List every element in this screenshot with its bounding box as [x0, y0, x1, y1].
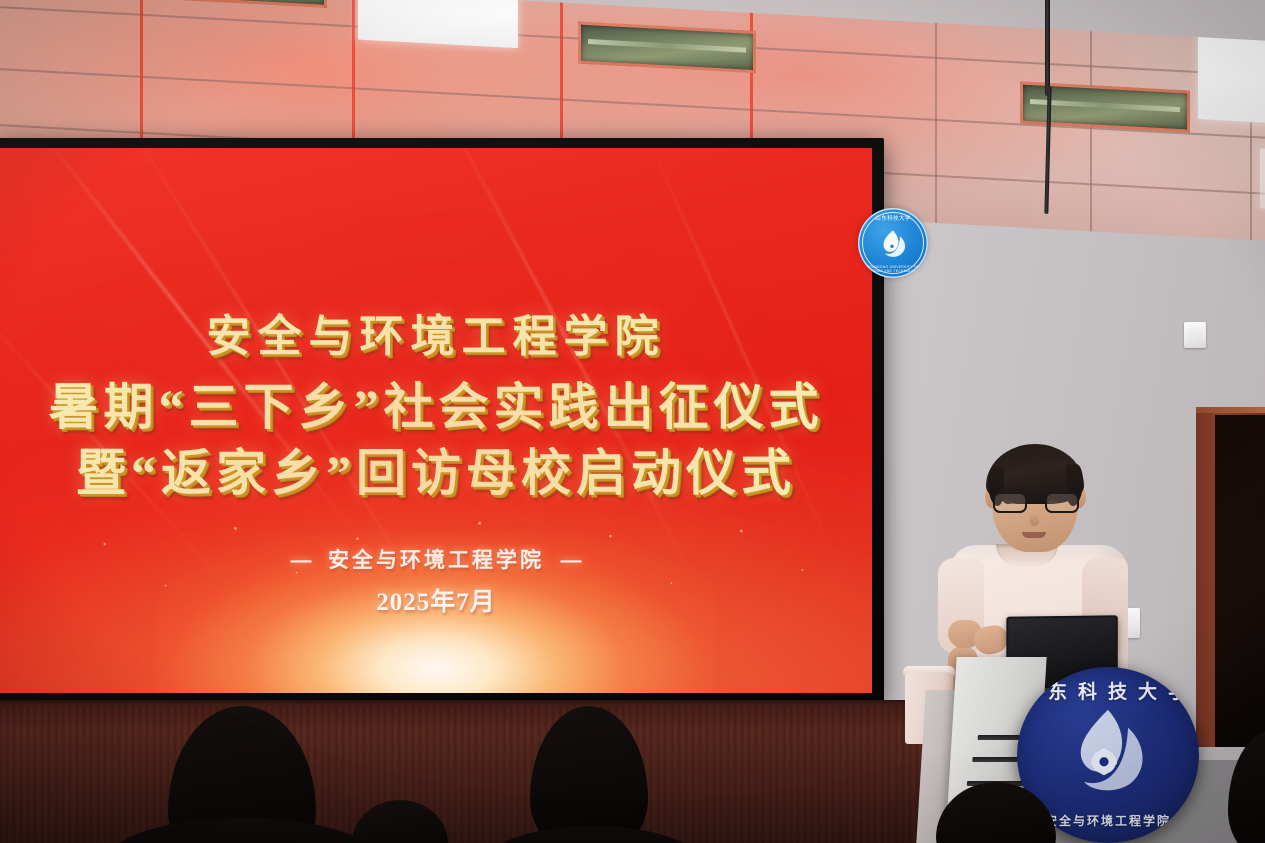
presenter-eyebrow-left [1000, 488, 1028, 491]
door-frame-highlight [1196, 407, 1265, 413]
ceiling-light-panel [1198, 27, 1265, 126]
sparkle-particles [0, 505, 872, 635]
emblem-flame-icon [873, 227, 913, 261]
glasses-lens-right [1045, 492, 1079, 513]
photo-scene: 安全与环境工程学院 暑期“三下乡”社会实践出征仪式 暨“返家乡”回访母校启动仪式… [0, 0, 1265, 843]
ceiling-light-panel [1260, 148, 1265, 214]
glasses-bridge [1027, 500, 1045, 502]
hanging-cable [1045, 0, 1050, 96]
eyeglasses-icon [990, 492, 1082, 514]
presenter-nose [1030, 514, 1039, 526]
wall-switch-upper[interactable] [1184, 322, 1206, 348]
plaque-arc-top-text: 山东科技大学 [1017, 677, 1199, 704]
emblem-arc-top-text: 山东科技大学 [858, 214, 928, 222]
plaque-flame-icon [1056, 706, 1160, 802]
presenter-eyebrow-right [1042, 488, 1070, 491]
wainscot-panel [0, 706, 1000, 843]
university-emblem-icon: 山东科技大学 SHANDONG UNIVERSITY OF SCIENCE AN… [858, 208, 928, 278]
emblem-arc-bottom-text: SHANDONG UNIVERSITY OF SCIENCE AND TECHN… [858, 265, 928, 273]
led-screen: 安全与环境工程学院 暑期“三下乡”社会实践出征仪式 暨“返家乡”回访母校启动仪式… [0, 148, 872, 693]
glasses-lens-left [993, 492, 1027, 513]
ceiling-grid-line [935, 0, 937, 244]
doorway-opening[interactable] [1215, 415, 1265, 747]
presenter-mouth [1022, 532, 1046, 538]
